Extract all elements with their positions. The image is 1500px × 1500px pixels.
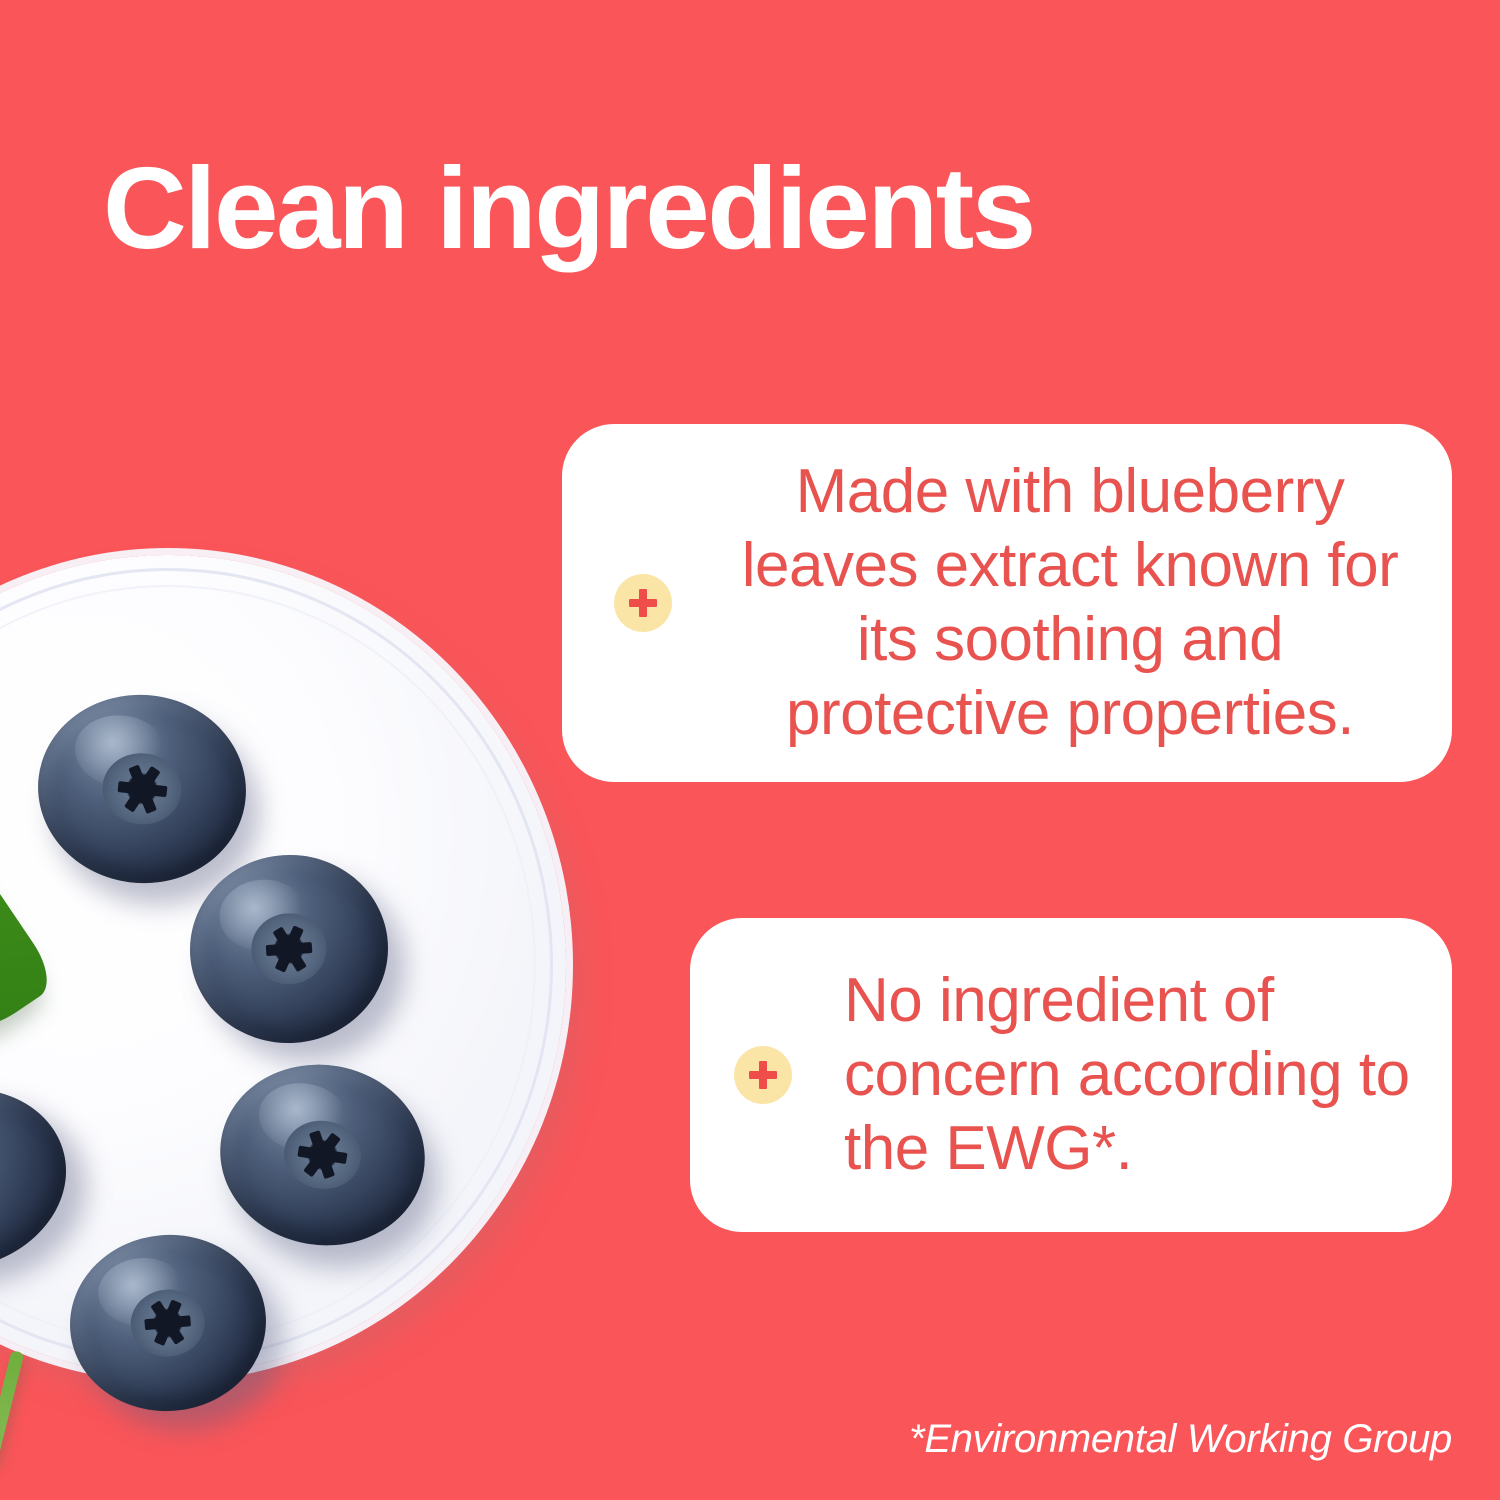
feature-card: Made with blueberry leaves extract known… bbox=[562, 424, 1452, 782]
page-title: Clean ingredients bbox=[103, 150, 1034, 266]
blueberry-petri-dish-photo bbox=[0, 555, 570, 1380]
feature-card-text: Made with blueberry leaves extract known… bbox=[728, 455, 1412, 750]
footnote: *Environmental Working Group bbox=[909, 1417, 1452, 1462]
feature-card: No ingredient of concern according to th… bbox=[690, 918, 1452, 1232]
plus-icon bbox=[734, 1046, 792, 1104]
leaf-stem bbox=[0, 1350, 24, 1462]
feature-card-text: No ingredient of concern according to th… bbox=[844, 964, 1416, 1185]
product-infographic: Clean ingredients bbox=[0, 0, 1500, 1500]
plus-icon bbox=[614, 574, 672, 632]
